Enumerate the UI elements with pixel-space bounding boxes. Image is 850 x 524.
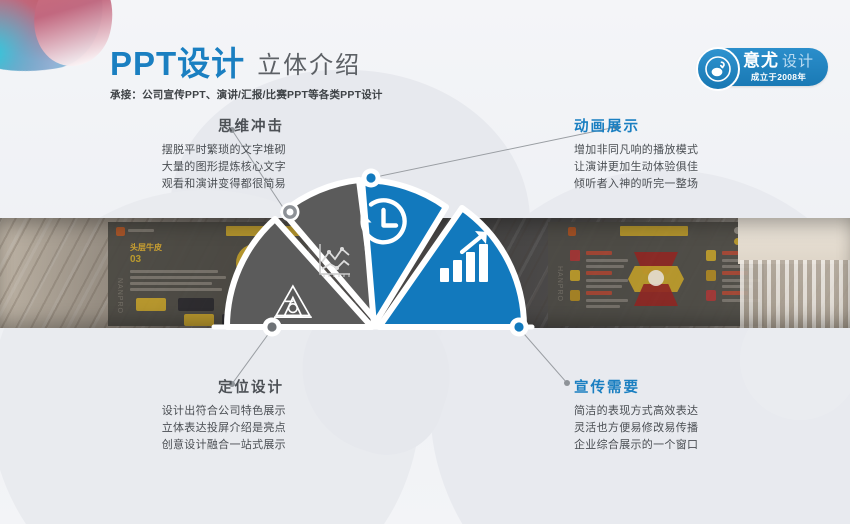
callout-top-left: 思维冲击 摆脱平时繁琐的文字堆砌 大量的图形提炼核心文字 观看和演讲变得都很简易 (46, 120, 286, 193)
callout-line: 设计出符合公司特色展示 (46, 403, 286, 420)
callout-line: 观看和演讲变得都很简易 (46, 176, 286, 193)
callout-line: 让演讲更加生动体验俱佳 (574, 159, 814, 176)
callout-top-right: 动画展示 增加非同凡响的播放模式 让演讲更加生动体验俱佳 倾听者入神的听完一整场 (574, 120, 814, 193)
callout-bottom-right: 宣传需要 简洁的表现方式高效表达 灵活也方便易修改易传播 企业综合展示的一个窗口 (574, 381, 814, 454)
callout-line: 灵活也方便易修改易传播 (574, 420, 814, 437)
callout-line: 摆脱平时繁琐的文字堆砌 (46, 142, 286, 159)
callout-heading: 定位设计 (46, 381, 286, 396)
connector-line-bottom-right (518, 327, 567, 383)
callout-line: 立体表达投屏介绍是亮点 (46, 420, 286, 437)
callout-heading: 宣传需要 (574, 381, 814, 396)
callout-line: 简洁的表现方式高效表达 (574, 403, 814, 420)
slide-canvas: 头层牛皮 03 NANPRO (0, 0, 850, 524)
leader-dot-bottom-right (564, 380, 570, 386)
callout-bottom-left: 定位设计 设计出符合公司特色展示 立体表达投屏介绍是亮点 创意设计融合一站式展示 (46, 381, 286, 454)
connector-line-bottom-left (232, 329, 272, 384)
callout-heading: 思维冲击 (46, 120, 286, 135)
callout-line: 倾听者入神的听完一整场 (574, 176, 814, 193)
callout-line: 创意设计融合一站式展示 (46, 437, 286, 454)
callout-line: 企业综合展示的一个窗口 (574, 437, 814, 454)
callout-heading: 动画展示 (574, 120, 814, 135)
callout-line: 大量的图形提炼核心文字 (46, 159, 286, 176)
callout-line: 增加非同凡响的播放模式 (574, 142, 814, 159)
